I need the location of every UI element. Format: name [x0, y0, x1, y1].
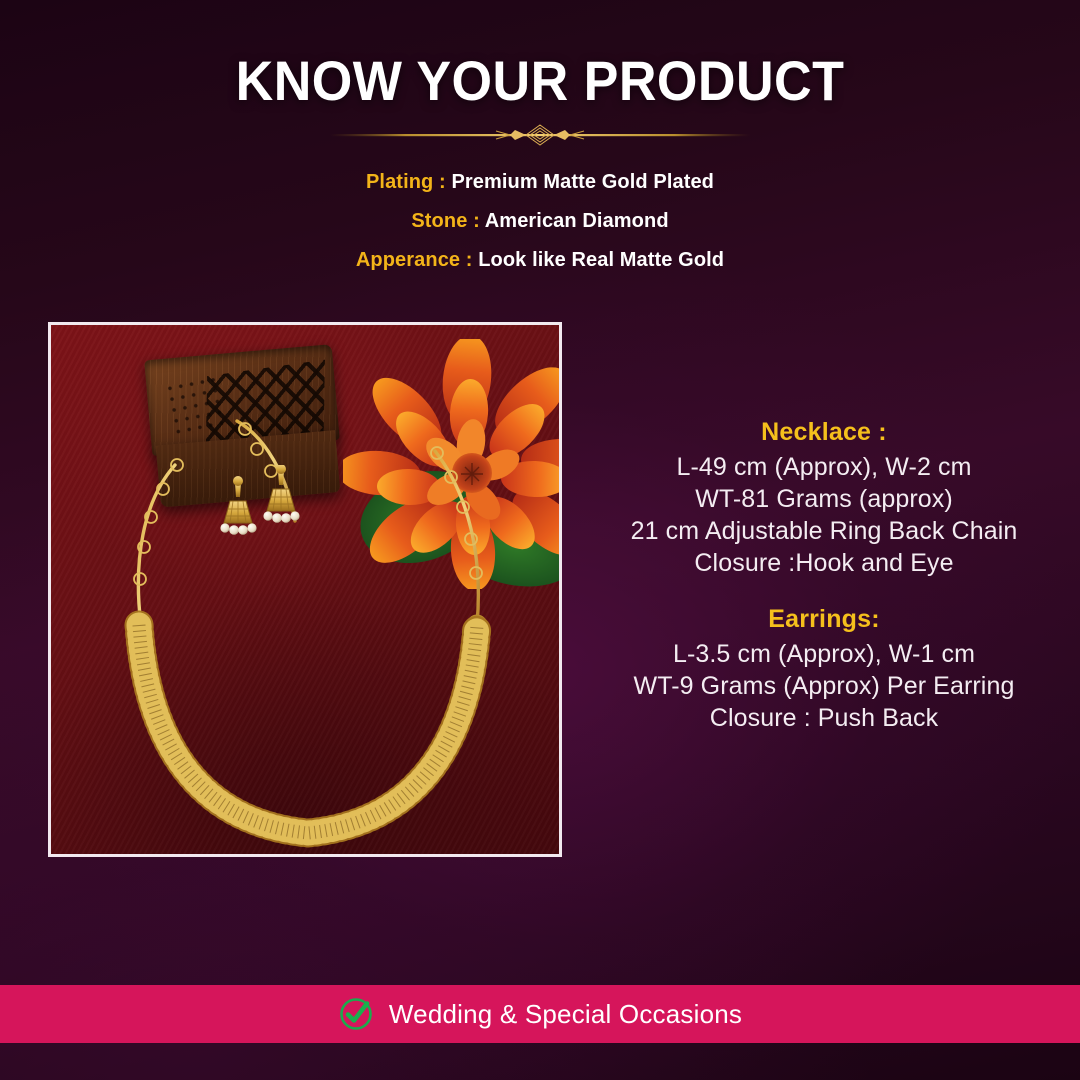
earring-left	[220, 476, 256, 535]
spec-key: Plating :	[366, 171, 446, 193]
earring-right	[263, 465, 299, 523]
page-title: KNOW YOUR PRODUCT	[38, 48, 1042, 113]
ornamental-diamond-divider-icon	[330, 120, 750, 150]
spec-value: Premium Matte Gold Plated	[451, 171, 714, 193]
spec-key: Stone :	[411, 210, 479, 232]
jhumka-earrings	[211, 465, 331, 585]
infographic-canvas: KNOW YOUR PRODUCT	[0, 0, 1080, 1080]
earrings-heading: Earrings:	[585, 605, 1063, 634]
spec-list: Plating : Premium Matte Gold Plated Ston…	[0, 172, 1080, 289]
necklace-band	[139, 625, 477, 833]
spec-row-plating: Plating : Premium Matte Gold Plated	[0, 172, 1080, 192]
spec-value: American Diamond	[485, 210, 669, 232]
spec-row-stone: Stone : American Diamond	[0, 211, 1080, 231]
occasion-label: Wedding & Special Occasions	[389, 999, 742, 1030]
spec-row-apperance: Apperance : Look like Real Matte Gold	[0, 250, 1080, 270]
green-check-circle-icon	[338, 996, 374, 1032]
product-image	[48, 322, 562, 857]
product-photo-content	[51, 325, 559, 854]
earrings-detail-line: Closure : Push Back	[585, 702, 1063, 734]
earrings-details: Earrings: L-3.5 cm (Approx), W-1 cm WT-9…	[585, 605, 1063, 734]
necklace-detail-line: 21 cm Adjustable Ring Back Chain	[585, 515, 1063, 547]
necklace-heading: Necklace :	[585, 418, 1063, 447]
spec-value: Look like Real Matte Gold	[478, 249, 724, 271]
earrings-detail-line: WT-9 Grams (Approx) Per Earring	[585, 670, 1063, 702]
necklace-details: Necklace : L-49 cm (Approx), W-2 cm WT-8…	[585, 418, 1063, 579]
product-details: Necklace : L-49 cm (Approx), W-2 cm WT-8…	[585, 418, 1063, 734]
details-spacer	[585, 579, 1063, 605]
pearl-drops	[263, 511, 299, 522]
pearl-drops	[220, 523, 256, 534]
occasion-banner: Wedding & Special Occasions	[0, 985, 1080, 1043]
necklace-detail-line: Closure :Hook and Eye	[585, 547, 1063, 579]
gold-necklace	[51, 325, 559, 854]
spec-key: Apperance :	[356, 249, 473, 271]
earrings-detail-line: L-3.5 cm (Approx), W-1 cm	[585, 638, 1063, 670]
necklace-detail-line: L-49 cm (Approx), W-2 cm	[585, 451, 1063, 483]
necklace-detail-line: WT-81 Grams (approx)	[585, 483, 1063, 515]
